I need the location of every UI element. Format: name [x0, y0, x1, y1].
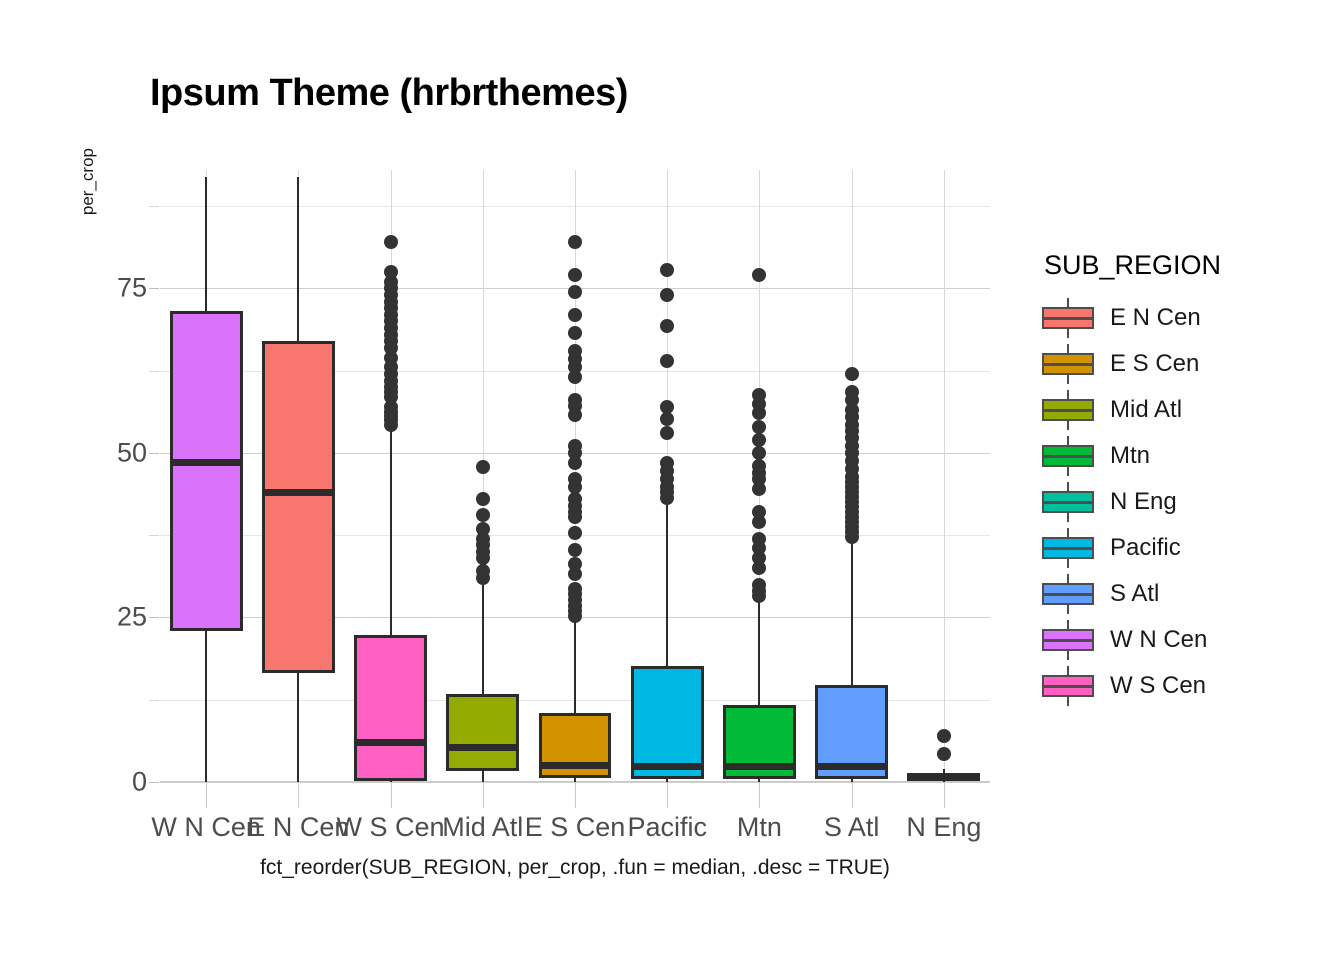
box-iqr[interactable]: [446, 694, 519, 770]
legend-key-icon: [1040, 298, 1096, 338]
median-line: [631, 763, 704, 770]
outlier-point: [568, 268, 582, 282]
outlier-point: [384, 235, 398, 249]
outlier-point: [476, 508, 490, 522]
legend-entry-label: W S Cen: [1110, 672, 1206, 700]
legend-entry-s-atl[interactable]: S Atl: [1040, 571, 1330, 617]
y-tick-label: 0: [132, 767, 147, 798]
legend-entry-label: Mtn: [1110, 442, 1150, 470]
legend-key-median: [1042, 455, 1094, 458]
whisker-upper: [482, 579, 484, 694]
outlier-point: [384, 265, 398, 279]
whisker-upper: [666, 499, 668, 665]
outlier-point: [476, 522, 490, 536]
whisker-upper: [297, 177, 299, 342]
outlier-point: [568, 582, 582, 596]
x-tick-mark: [391, 782, 392, 808]
outlier-point: [568, 526, 582, 540]
legend-key-median: [1042, 317, 1094, 320]
legend-key-median: [1042, 547, 1094, 550]
x-tick-label: W S Cen: [337, 812, 445, 843]
whisker-upper: [574, 617, 576, 712]
y-tick-label: 50: [117, 437, 147, 468]
legend-entry-label: E S Cen: [1110, 350, 1199, 378]
median-line: [354, 739, 427, 746]
plot-panel: [160, 170, 990, 782]
y-tick-mark-layer: [149, 170, 160, 782]
legend-key-icon: [1040, 574, 1096, 614]
legend-entry-pacific[interactable]: Pacific: [1040, 525, 1330, 571]
x-tick-label: S Atl: [824, 812, 880, 843]
outlier-point: [568, 285, 582, 299]
legend-entry-label: E N Cen: [1110, 304, 1201, 332]
x-tick-label: Mid Atl: [442, 812, 523, 843]
x-tick-label: Mtn: [737, 812, 782, 843]
whisker-lower: [297, 673, 299, 782]
legend-entry-label: W N Cen: [1110, 626, 1207, 654]
legend-key-icon: [1040, 666, 1096, 706]
outlier-point: [752, 578, 766, 592]
y-tick-mark: [149, 453, 159, 454]
whisker-upper: [390, 427, 392, 636]
legend-key-median: [1042, 593, 1094, 596]
whisker-lower: [482, 771, 484, 782]
legend-entry-mtn[interactable]: Mtn: [1040, 433, 1330, 479]
boxplot-e-s-cen[interactable]: [539, 170, 612, 782]
legend-entry-n-eng[interactable]: N Eng: [1040, 479, 1330, 525]
page-title: Ipsum Theme (hrbrthemes): [150, 72, 628, 115]
x-tick-label-layer: W N CenE N CenW S CenMid AtlE S CenPacif…: [160, 812, 990, 852]
median-line: [815, 763, 888, 770]
legend-entry-label: N Eng: [1110, 488, 1177, 516]
boxplot-e-n-cen[interactable]: [262, 170, 335, 782]
whisker-upper: [205, 177, 207, 312]
boxplot-w-n-cen[interactable]: [170, 170, 243, 782]
x-tick-mark: [852, 782, 853, 808]
y-tick-mark-minor: [149, 206, 159, 207]
y-tick-mark: [149, 782, 159, 783]
x-tick-label: E S Cen: [525, 812, 626, 843]
legend-key-icon: [1040, 482, 1096, 522]
x-tick-label: E N Cen: [247, 812, 349, 843]
whisker-upper: [758, 598, 760, 705]
x-axis-title: fct_reorder(SUB_REGION, per_crop, .fun =…: [160, 856, 990, 880]
median-line: [907, 773, 980, 780]
outlier-point: [476, 460, 490, 474]
outlier-point: [752, 268, 766, 282]
y-tick-mark-minor: [149, 371, 159, 372]
legend-key-median: [1042, 685, 1094, 688]
y-tick-mark: [149, 288, 159, 289]
median-line: [262, 489, 335, 496]
x-tick-label: Pacific: [627, 812, 707, 843]
box-iqr[interactable]: [354, 635, 427, 780]
outlier-point: [845, 367, 859, 381]
x-tick-mark: [759, 782, 760, 808]
legend-entry-list: E N CenE S CenMid AtlMtnN EngPacificS At…: [1040, 295, 1330, 709]
boxplot-s-atl[interactable]: [815, 170, 888, 782]
legend-key-median: [1042, 501, 1094, 504]
legend-entry-label: Mid Atl: [1110, 396, 1182, 424]
boxplot-w-s-cen[interactable]: [354, 170, 427, 782]
legend-entry-label: S Atl: [1110, 580, 1159, 608]
outlier-point: [752, 446, 766, 460]
median-line: [446, 744, 519, 751]
boxplot-mid-atl[interactable]: [446, 170, 519, 782]
outlier-point: [937, 747, 951, 761]
median-line: [539, 762, 612, 769]
box-iqr[interactable]: [262, 341, 335, 673]
legend-key-icon: [1040, 620, 1096, 660]
legend-entry-e-s-cen[interactable]: E S Cen: [1040, 341, 1330, 387]
legend-key-icon: [1040, 390, 1096, 430]
outlier-point: [937, 729, 951, 743]
y-tick-mark-minor: [149, 700, 159, 701]
whisker-upper: [851, 539, 853, 685]
x-tick-mark: [575, 782, 576, 808]
legend-entry-mid-atl[interactable]: Mid Atl: [1040, 387, 1330, 433]
legend-key-median: [1042, 639, 1094, 642]
outlier-point: [752, 532, 766, 546]
outlier-point: [660, 263, 674, 277]
outlier-point: [568, 492, 582, 506]
x-tick-mark: [944, 782, 945, 808]
legend-entry-w-n-cen[interactable]: W N Cen: [1040, 617, 1330, 663]
legend-key-icon: [1040, 436, 1096, 476]
x-tick-mark: [483, 782, 484, 808]
legend-key-icon: [1040, 344, 1096, 384]
y-tick-label: 25: [117, 602, 147, 633]
whisker-lower: [205, 631, 207, 782]
outlier-point: [568, 235, 582, 249]
outlier-point: [752, 433, 766, 447]
y-tick-mark: [149, 617, 159, 618]
y-tick-label-layer: 0255075: [95, 170, 147, 782]
outlier-point: [752, 420, 766, 434]
outlier-point: [476, 492, 490, 506]
boxplot-pacific[interactable]: [631, 170, 704, 782]
legend-entry-w-s-cen[interactable]: W S Cen: [1040, 663, 1330, 709]
outlier-point: [845, 385, 859, 399]
outlier-point: [660, 456, 674, 470]
y-tick-label: 75: [117, 273, 147, 304]
outlier-point: [660, 288, 674, 302]
legend-key-median: [1042, 363, 1094, 366]
x-tick-label: W N Cen: [151, 812, 261, 843]
legend-key-median: [1042, 409, 1094, 412]
x-tick-mark: [667, 782, 668, 808]
outlier-point: [568, 557, 582, 571]
boxplot-n-eng[interactable]: [907, 170, 980, 782]
x-tick-label: N Eng: [906, 812, 981, 843]
box-iqr[interactable]: [170, 311, 243, 630]
legend-title: SUB_REGION: [1044, 250, 1330, 281]
outlier-point: [568, 344, 582, 358]
legend-entry-label: Pacific: [1110, 534, 1181, 562]
x-tick-mark-layer: [160, 782, 990, 808]
legend-entry-e-n-cen[interactable]: E N Cen: [1040, 295, 1330, 341]
boxplot-mtn[interactable]: [723, 170, 796, 782]
outlier-point: [568, 326, 582, 340]
outlier-point: [568, 308, 582, 322]
legend-key-icon: [1040, 528, 1096, 568]
median-line: [723, 763, 796, 770]
median-line: [170, 459, 243, 466]
outlier-point: [568, 543, 582, 557]
x-tick-mark: [298, 782, 299, 808]
outlier-point: [660, 319, 674, 333]
outlier-point: [660, 400, 674, 414]
x-tick-mark: [206, 782, 207, 808]
chart-root: Ipsum Theme (hrbrthemes) per_crop 025507…: [0, 0, 1344, 960]
legend: SUB_REGION E N CenE S CenMid AtlMtnN Eng…: [1040, 250, 1330, 709]
y-tick-mark-minor: [149, 535, 159, 536]
outlier-point: [660, 426, 674, 440]
outlier-point: [660, 354, 674, 368]
